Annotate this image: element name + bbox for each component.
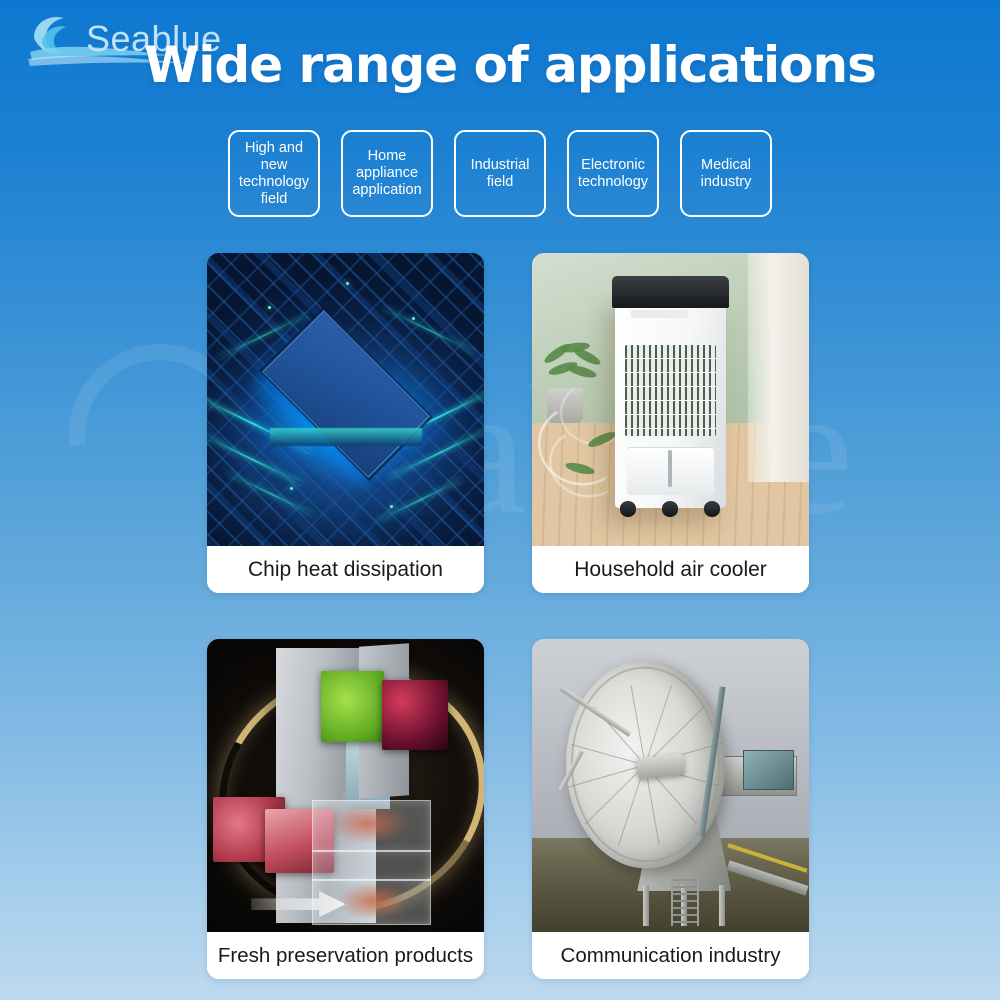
air-cooler-room-image bbox=[532, 253, 809, 546]
berries-image bbox=[382, 680, 448, 750]
leaf bbox=[566, 363, 597, 380]
crisper-drawer bbox=[312, 850, 430, 881]
chip-edge-highlight bbox=[270, 428, 422, 446]
card-caption: Household air cooler bbox=[532, 546, 809, 593]
grille-row bbox=[625, 359, 716, 373]
chip-scene bbox=[207, 253, 484, 546]
caster-wheel bbox=[662, 501, 679, 516]
lobster-image bbox=[326, 803, 409, 844]
spark-dot bbox=[268, 306, 271, 309]
tag-medical-industry[interactable]: Medical industry bbox=[680, 130, 772, 217]
cooler-control-panel bbox=[612, 276, 729, 309]
support-leg bbox=[719, 885, 725, 926]
room-scene bbox=[532, 253, 809, 546]
card-household-air-cooler[interactable]: Household air cooler bbox=[532, 253, 809, 593]
tag-label: High and new technology field bbox=[238, 140, 310, 208]
fridge-scene bbox=[207, 639, 484, 932]
card-caption: Chip heat dissipation bbox=[207, 546, 484, 593]
card-caption: Fresh preservation products bbox=[207, 932, 484, 979]
caster-wheel bbox=[620, 501, 637, 516]
card-communication-industry[interactable]: Communication industry bbox=[532, 639, 809, 979]
grille-row bbox=[625, 415, 716, 429]
lettuce-image bbox=[321, 671, 385, 741]
tag-electronic-technology[interactable]: Electronic technology bbox=[567, 130, 659, 217]
cooler-brand-label bbox=[631, 310, 689, 319]
cooler-water-tank bbox=[627, 447, 713, 495]
page-title: Wide range of applications bbox=[0, 36, 1000, 94]
grille-row bbox=[625, 387, 716, 401]
tag-industrial-field[interactable]: Industrial field bbox=[454, 130, 546, 217]
tag-label: Industrial field bbox=[464, 157, 536, 191]
cpu-chip-circuit-board-image bbox=[207, 253, 484, 546]
grille-row bbox=[625, 345, 716, 359]
card-fresh-preservation-products[interactable]: Fresh preservation products bbox=[207, 639, 484, 979]
tag-label: Home appliance application bbox=[351, 148, 423, 199]
curtain bbox=[748, 253, 809, 482]
access-ladder bbox=[671, 879, 700, 926]
spark-dot bbox=[346, 282, 349, 285]
tag-home-appliance-application[interactable]: Home appliance application bbox=[341, 130, 433, 217]
application-card-grid: Chip heat dissipation bbox=[207, 253, 807, 979]
card-caption: Communication industry bbox=[532, 932, 809, 979]
satellite-scene bbox=[532, 639, 809, 932]
air-cooler-unit bbox=[615, 291, 726, 508]
refrigerator-fresh-food-image bbox=[207, 639, 484, 932]
cooler-grille bbox=[625, 345, 716, 436]
tag-label: Medical industry bbox=[690, 157, 762, 191]
tag-high-and-new-technology-field[interactable]: High and new technology field bbox=[228, 130, 320, 217]
tag-label: Electronic technology bbox=[577, 157, 649, 191]
crab-image bbox=[337, 882, 409, 920]
support-leg bbox=[643, 885, 649, 926]
grille-row bbox=[625, 429, 716, 437]
grille-row bbox=[625, 401, 716, 415]
card-chip-heat-dissipation[interactable]: Chip heat dissipation bbox=[207, 253, 484, 593]
grille-row bbox=[625, 373, 716, 387]
spark-dot bbox=[390, 505, 393, 508]
tank-handle bbox=[668, 450, 672, 487]
caster-wheel bbox=[704, 501, 721, 516]
application-tag-list: High and new technology field Home appli… bbox=[0, 130, 1000, 217]
equipment-cabin bbox=[743, 750, 795, 790]
satellite-dish-antenna-image bbox=[532, 639, 809, 932]
